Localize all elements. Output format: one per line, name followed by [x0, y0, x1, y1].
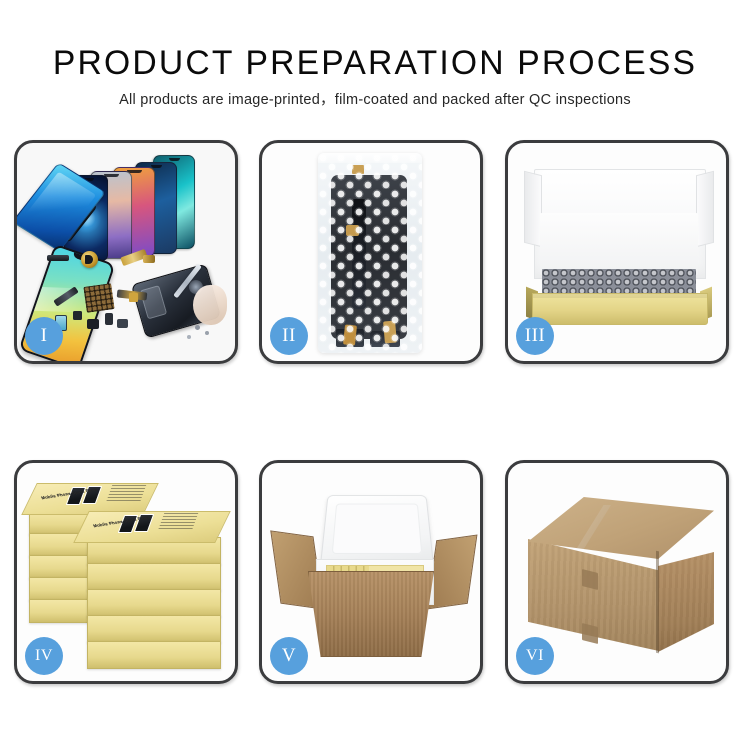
- foam-sheet-icon: [540, 213, 698, 275]
- header: PRODUCT PREPARATION PROCESS All products…: [0, 0, 750, 109]
- process-step-panel-2: II: [259, 140, 483, 364]
- bag-seam-icon: [318, 153, 422, 163]
- gold-contact-part-icon: [143, 255, 155, 263]
- stacked-box-icon: [87, 563, 221, 591]
- bubble-wrap-bag-icon: [318, 153, 422, 353]
- stacked-box-icon: [87, 641, 221, 669]
- step-badge-3: III: [516, 317, 554, 355]
- step-badge-1: I: [25, 317, 63, 355]
- carton-right-face-icon: [658, 552, 714, 652]
- bubble-texture-icon: [318, 153, 422, 353]
- box-spec-text-lines: [106, 485, 147, 503]
- logic-board-part-icon: [83, 283, 114, 313]
- box-front-wall-icon: [532, 293, 708, 325]
- carton-vertical-edge-icon: [656, 551, 659, 654]
- stacked-box-icon: [87, 589, 221, 617]
- screw-icon: [195, 325, 200, 330]
- sealed-carton-icon: [528, 497, 714, 655]
- open-carton-icon: [276, 485, 472, 661]
- step-badge-2: II: [270, 317, 308, 355]
- process-step-panel-5: V: [259, 460, 483, 684]
- page-subtitle: All products are image-printed，film-coat…: [0, 82, 750, 109]
- step-badge-4: IV: [25, 637, 63, 675]
- carton-tape-patch-icon: [582, 569, 598, 590]
- carton-tape-patch-icon: [582, 623, 598, 644]
- carton-body-icon: [308, 571, 434, 657]
- box-spec-text-lines: [158, 513, 199, 531]
- process-step-panel-1: I: [14, 140, 238, 364]
- screw-icon: [187, 335, 191, 339]
- step-badge-5: V: [270, 637, 308, 675]
- process-step-panel-3: III: [505, 140, 729, 364]
- foam-lid-icon: [320, 495, 434, 566]
- corrugation-texture-icon: [658, 552, 714, 652]
- hand-icon: [193, 285, 227, 325]
- speaker-module-part-icon: [81, 251, 98, 268]
- stacked-box-icon: [87, 615, 221, 643]
- small-part-icon: [105, 313, 113, 325]
- battery-connector-part-icon: [47, 255, 69, 261]
- page-title: PRODUCT PREPARATION PROCESS: [4, 0, 747, 82]
- process-step-panel-4: Mobile Phone Spare Parts Mobile Phone Sp…: [14, 460, 238, 684]
- gold-contact-part-icon: [129, 293, 138, 302]
- open-inner-box-icon: [524, 169, 714, 329]
- step-badge-6: VI: [516, 637, 554, 675]
- process-step-grid: I II: [14, 140, 736, 690]
- carton-flap-right-icon: [427, 534, 478, 609]
- screw-icon: [205, 331, 209, 335]
- process-step-panel-6: VI: [505, 460, 729, 684]
- notch-icon: [169, 158, 180, 162]
- small-part-icon: [73, 311, 82, 320]
- small-part-icon: [117, 319, 128, 328]
- small-part-icon: [87, 319, 99, 329]
- product-preparation-process-infographic: PRODUCT PREPARATION PROCESS All products…: [0, 0, 750, 750]
- box-flap-right-icon: [696, 171, 714, 247]
